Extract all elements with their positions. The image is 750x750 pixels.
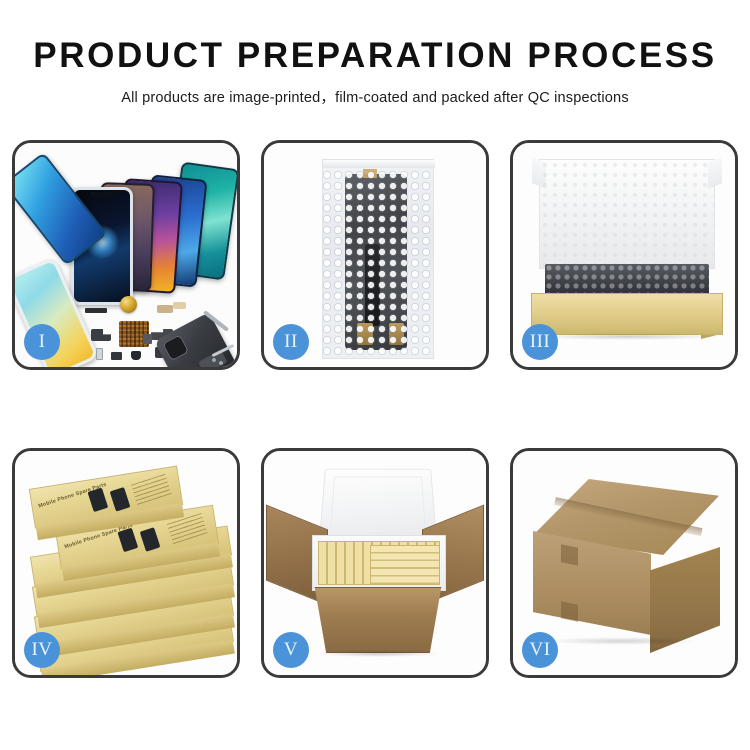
box-label-phone-b-icon [140, 527, 161, 552]
process-steps-grid: I II [12, 140, 738, 680]
page-subtitle: All products are image-printed，film-coat… [0, 86, 750, 107]
process-step-panel-5[interactable]: V [261, 448, 489, 678]
box-contents-icon [545, 264, 709, 296]
carton-tape-lower-icon [561, 601, 578, 622]
button-component-icon [131, 351, 141, 360]
step-badge-2: II [273, 324, 309, 360]
carton-tape-upper-icon [561, 544, 578, 566]
box-label-phone-c-icon [87, 488, 108, 513]
box-lid-icon [539, 159, 715, 269]
packed-boxes-row-b [370, 545, 440, 585]
flex-cable-c-icon [157, 305, 173, 313]
step-badge-4: IV [24, 632, 60, 668]
chip-component-icon [143, 334, 152, 344]
phone-notch-icon [90, 192, 114, 198]
step-badge-5: V [273, 632, 309, 668]
process-step-panel-1[interactable]: I [12, 140, 240, 370]
carton-front-icon [306, 587, 450, 653]
bubble-texture [323, 160, 433, 358]
stacked-box-1: Mobile Phone Spare Parts [29, 466, 183, 529]
header: PRODUCT PREPARATION PROCESS All products… [0, 0, 750, 107]
flex-cable-d-icon [173, 302, 186, 309]
step-badge-6: VI [522, 632, 558, 668]
bubble-bag-icon [322, 159, 434, 359]
flex-cable-a-icon [91, 329, 111, 341]
screws-icon [211, 357, 225, 367]
foam-lid-icon [319, 469, 437, 543]
process-step-panel-3[interactable]: III [510, 140, 738, 370]
step-badge-3: III [522, 324, 558, 360]
process-step-panel-6[interactable]: VI [510, 448, 738, 678]
sim-tray-icon [96, 348, 103, 360]
box-label-phone-d-icon [110, 487, 131, 512]
step-badge-1: I [24, 324, 60, 360]
carton-shadow [318, 650, 438, 657]
kraft-box-front-icon [531, 293, 723, 335]
lid-foam-texture [540, 160, 714, 268]
sealed-carton-shadow [547, 637, 697, 645]
bag-seal-icon [323, 160, 435, 168]
process-step-panel-2[interactable]: II [261, 140, 489, 370]
box-shadow [535, 333, 719, 340]
box-label-spec-lines-1 [131, 474, 172, 506]
coil-component-icon [120, 296, 137, 313]
speaker-component-icon [111, 352, 122, 360]
box-label-phone-a-icon [117, 528, 138, 553]
process-step-panel-4[interactable]: Mobile Phone Spare Parts Mobile Phone Sp… [12, 448, 240, 678]
product-preparation-infographic: PRODUCT PREPARATION PROCESS All products… [0, 0, 750, 750]
page-title: PRODUCT PREPARATION PROCESS [0, 38, 750, 75]
bar-component-icon [85, 308, 107, 313]
